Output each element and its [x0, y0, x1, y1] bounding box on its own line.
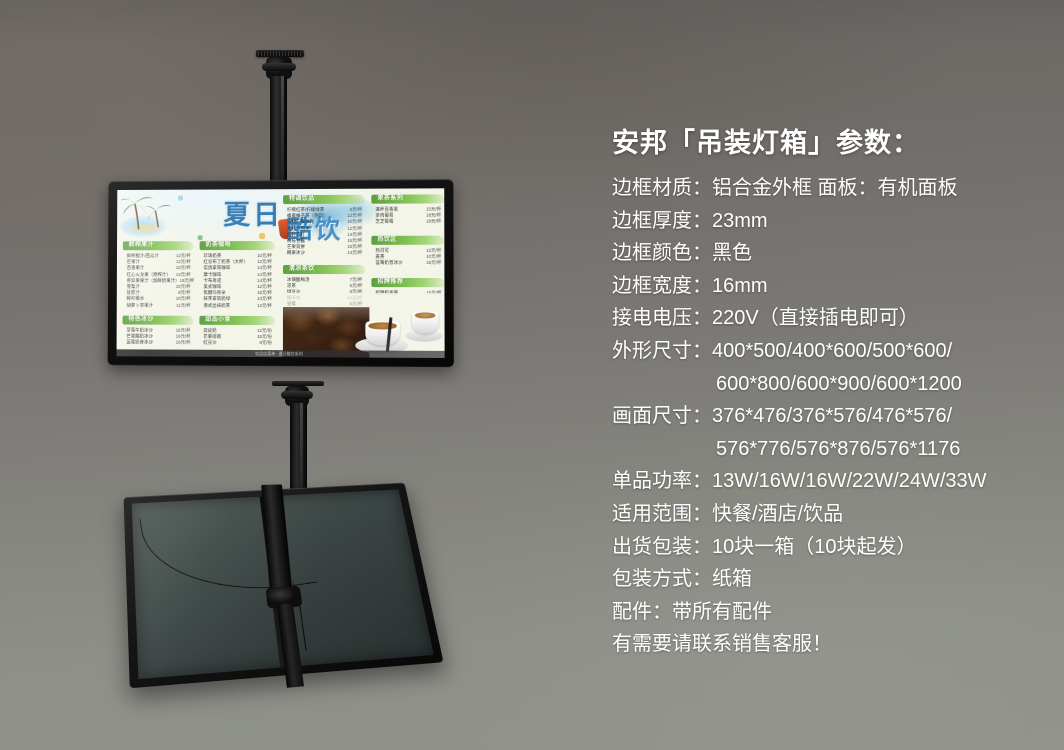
- menu-item-price: 14元/杯: [347, 250, 362, 256]
- menu-section-title: 特色冰沙: [128, 315, 153, 324]
- swivel-bolt-upper: [262, 63, 296, 71]
- menu-section-header: 特色冰沙: [123, 315, 194, 324]
- spec-line-application: 适用范围：快餐/酒店/饮品: [612, 498, 1042, 531]
- ceiling-mount-plate-ridges: [258, 51, 302, 56]
- menu-section-items: 草莓牛奶冰沙16元/杯 芒果酸奶冰沙16元/杯 蓝莓奶昔冰沙16元/杯: [122, 327, 193, 346]
- menu-section-header: 甜品小食: [199, 316, 275, 325]
- drop-pole-upper-highlight: [281, 76, 284, 184]
- menu-section-title: 清凉茶饮: [289, 265, 315, 274]
- title-char-1: 夏: [223, 202, 250, 229]
- product-photo-scene: 夏 日 酷 饮 鲜榨果汁 鲜榨橙汁/西瓜汁12元/杯 芒果汁12元/杯: [0, 0, 1064, 750]
- spec-line-packaging: 包装方式：纸箱: [612, 563, 1042, 596]
- menu-item-row: 红豆沙8元/份: [199, 340, 275, 347]
- menu-item-name: 胡萝卜苹果汁: [127, 302, 153, 308]
- lightbox-panel: 夏 日 酷 饮 鲜榨果汁 鲜榨橙汁/西瓜汁12元/杯 芒果汁12元/杯: [117, 188, 445, 358]
- spec-line-frame-thickness: 边框厚度：23mm: [612, 205, 1042, 238]
- menu-section-items: 双皮奶12元/份 芒果班戟15元/份 红豆沙8元/份: [199, 328, 275, 347]
- swivel-bolt-lower: [281, 391, 313, 399]
- spec-title: 安邦「吊装灯箱」参数：: [612, 122, 1042, 164]
- spec-line-outer-size: 外形尺寸：400*500/400*600/500*600/: [612, 335, 1042, 368]
- menu-item-price: 8元/份: [259, 340, 271, 346]
- menu-item-name: 蓝莓奶昔冰沙: [375, 260, 402, 266]
- menu-column-3: 特调饮品 柠檬红茶/柠檬绿茶9元/杯 蜂蜜柚子茶（热饮）12元/杯 金桔柠檬冰爽…: [283, 195, 365, 308]
- menu-section-title: 甜品小食: [205, 316, 230, 325]
- menu-section-title: 奶茶咖啡: [206, 241, 231, 250]
- menu-item-name: 港式丝袜奶茶: [203, 302, 230, 308]
- menu-item-name: 芝芝莓莓: [375, 219, 393, 225]
- menu-section-title: 果茶系列: [377, 195, 403, 204]
- menu-item-price: 12元/杯: [257, 303, 272, 309]
- spec-line-shipping-pack: 出货包装：10块一箱（10块起发）: [612, 531, 1042, 564]
- spec-line-voltage: 接电电压：220V（直接插电即可）: [612, 302, 1042, 335]
- photo-fade-overlay: [283, 293, 445, 358]
- menu-lightbox-front: 夏 日 酷 饮 鲜榨果汁 鲜榨橙汁/西瓜汁12元/杯 芒果汁12元/杯: [108, 179, 454, 367]
- menu-section-header: 特调饮品: [283, 195, 365, 204]
- spec-line-outer-size-cont: 600*800/600*900/600*1200: [612, 368, 1042, 401]
- menu-item-name: 蓝莓奶昔冰沙: [126, 340, 153, 346]
- menu-section-header: 鲜榨果汁: [123, 241, 194, 250]
- spec-line-graphic-size: 画面尺寸：376*476/376*576/476*576/: [612, 400, 1042, 433]
- confetti-dot: [178, 196, 183, 201]
- menu-item-name: 椰果冰沙: [287, 250, 305, 256]
- spec-line-frame-width: 边框宽度：16mm: [612, 270, 1042, 303]
- menu-section-header: 奶茶咖啡: [200, 241, 275, 250]
- poster-footer-text: 饮品店菜单 · 夏日酷饮系列: [255, 350, 303, 357]
- menu-item-row: 蓝莓奶昔冰沙16元/杯: [122, 340, 193, 346]
- menu-column-2: 奶茶咖啡 珍珠奶茶10元/杯 红豆布丁奶茶（大杯）12元/杯 炭烧拿铁咖啡14元…: [199, 241, 275, 346]
- menu-column-4: 果茶系列 满杯百香果15元/杯 多肉葡萄18元/杯 芝芝莓莓18元/杯 热饮区 …: [371, 194, 444, 296]
- menu-section-header: 果茶系列: [371, 194, 444, 203]
- menu-section-items: 满杯百香果15元/杯 多肉葡萄18元/杯 芝芝莓莓18元/杯: [371, 206, 444, 225]
- spec-line-power: 单品功率：13W/16W/16W/22W/24W/33W: [612, 465, 1042, 498]
- spec-line-frame-color: 边框颜色：黑色: [612, 237, 1042, 270]
- menu-poster: 夏 日 酷 饮 鲜榨果汁 鲜榨橙汁/西瓜汁12元/杯 芒果汁12元/杯: [117, 188, 445, 358]
- menu-section-items: 鲜榨橙汁/西瓜汁12元/杯 芒果汁12元/杯 百香果汁10元/杯 红心火龙果（原…: [123, 253, 194, 309]
- title-char-2: 日: [253, 202, 280, 229]
- menu-item-price: 16元/杯: [176, 340, 191, 346]
- lightbox-rear-view: [124, 483, 444, 689]
- drop-pole-upper: [270, 76, 287, 184]
- menu-section-header: 清凉茶饮: [283, 265, 365, 274]
- menu-section-title: 鲜榨果汁: [129, 241, 154, 250]
- menu-section-title: 特调饮品: [289, 195, 315, 204]
- menu-section-items: 热可可12元/杯 姜茶10元/杯 蓝莓奶昔冰沙16元/杯: [371, 247, 444, 266]
- spec-line-frame-material: 边框材质：铝合金外框 面板：有机面板: [612, 172, 1042, 205]
- menu-section-header: 招牌推荐: [371, 278, 444, 287]
- menu-item-price: 16元/杯: [426, 260, 441, 266]
- spec-line-graphic-size-cont: 576*776/576*876/576*1176: [612, 433, 1042, 466]
- menu-section-title: 热饮区: [377, 235, 396, 244]
- spec-line-contact: 有需要请联系销售客服！: [612, 628, 1042, 661]
- menu-column-1: 鲜榨果汁 鲜榨橙汁/西瓜汁12元/杯 芒果汁12元/杯 百香果汁10元/杯 红心…: [122, 241, 193, 346]
- menu-item-price: 18元/杯: [426, 219, 441, 225]
- menu-section-title: 招牌推荐: [377, 278, 403, 287]
- spec-line-accessories: 配件：带所有配件: [612, 596, 1042, 629]
- menu-section-header: 热饮区: [371, 235, 444, 244]
- menu-section-items: 柠檬红茶/柠檬绿茶9元/杯 蜂蜜柚子茶（热饮）12元/杯 金桔柠檬冰爽10元/杯…: [283, 207, 365, 257]
- spec-panel: 安邦「吊装灯箱」参数： 边框材质：铝合金外框 面板：有机面板 边框厚度：23mm…: [612, 122, 1042, 661]
- coffee-photo: [283, 293, 445, 358]
- menu-item-price: 11元/杯: [176, 302, 190, 308]
- menu-item-name: 红豆沙: [203, 340, 216, 346]
- menu-section-items: 珍珠奶茶10元/杯 红豆布丁奶茶（大杯）12元/杯 炭烧拿铁咖啡14元/杯 摩卡…: [199, 253, 275, 309]
